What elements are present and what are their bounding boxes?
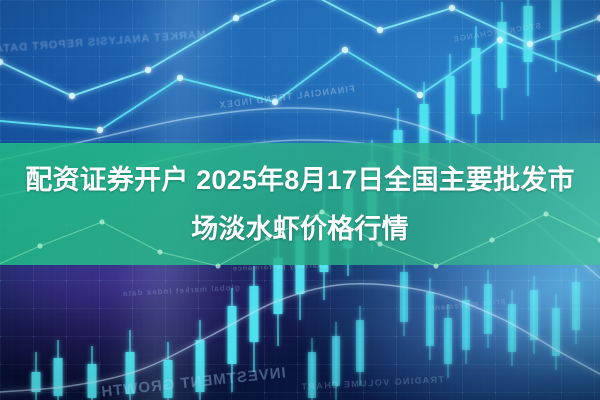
- title-line-2: 场淡水虾价格行情: [0, 205, 600, 254]
- banner-image: MARKET ANALYSIS REPORT DATA FINANCIAL TR…: [0, 0, 600, 400]
- title-line-1: 配资证券开户 2025年8月17日全国主要批发市: [0, 156, 600, 205]
- page-title: 配资证券开户 2025年8月17日全国主要批发市 场淡水虾价格行情: [0, 156, 600, 254]
